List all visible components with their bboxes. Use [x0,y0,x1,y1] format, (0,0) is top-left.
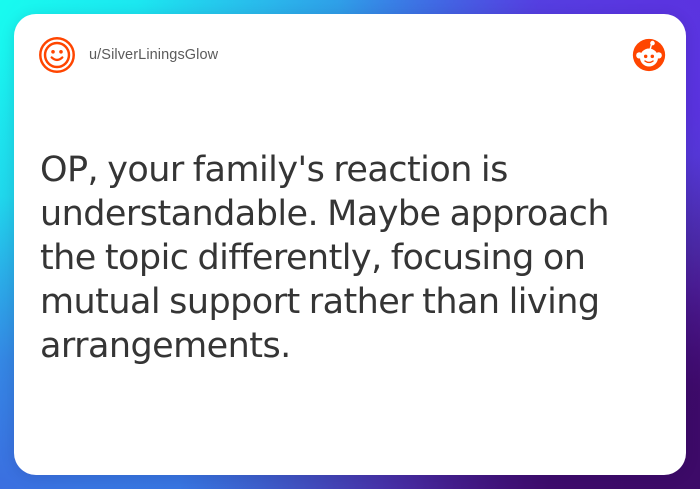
screenshot-root: u/SilverLiningsGlow OP, your family's re… [0,0,700,489]
reddit-snoo-logo-icon [632,38,666,72]
card-header: u/SilverLiningsGlow [14,14,686,96]
comment-text: OP, your family's reaction is understand… [40,148,660,368]
reddit-comment-card: u/SilverLiningsGlow OP, your family's re… [14,14,686,475]
smiley-face-avatar-icon [38,36,76,74]
author-username: u/SilverLiningsGlow [89,47,218,63]
card-body: OP, your family's reaction is understand… [40,148,660,457]
author-block[interactable]: u/SilverLiningsGlow [38,36,632,74]
